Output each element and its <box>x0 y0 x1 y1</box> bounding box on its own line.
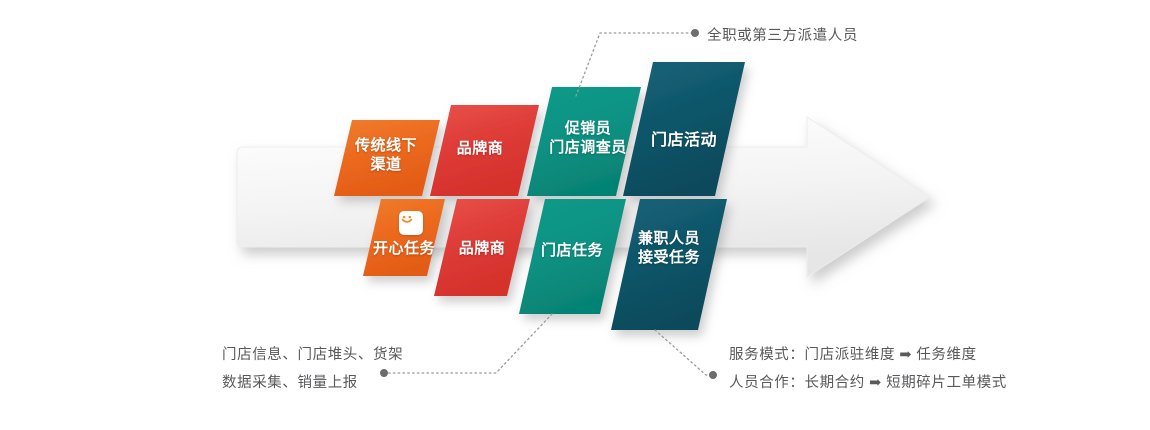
diagram-canvas: 传统线下 渠道 品牌商 促销员 门店调查员 门店活动 开心任务 品牌商 门店任务… <box>0 0 1150 430</box>
smiley-face-glyph <box>399 211 415 227</box>
annotation-bottom-right-staff-cooperation: 人员合作：长期合约 ➡ 短期碎片工单模式 <box>729 370 1007 398</box>
traditional-row-cards <box>334 62 745 196</box>
annotation-top-right: 全职或第三方派遣人员 <box>707 23 858 51</box>
card-traditional-offline-channel[interactable] <box>334 120 440 196</box>
connector-bottom-right <box>655 330 717 379</box>
smiley-icon <box>399 211 423 235</box>
diagram-vector-layer <box>0 0 1150 430</box>
connector-bottom-left <box>380 314 552 377</box>
annotation-bottom-left: 门店信息、门店堆头、货架 数据采集、销量上报 <box>222 342 403 397</box>
annotation-bottom-right-service-mode: 服务模式：门店派驻维度 ➡ 任务维度 <box>729 342 977 370</box>
